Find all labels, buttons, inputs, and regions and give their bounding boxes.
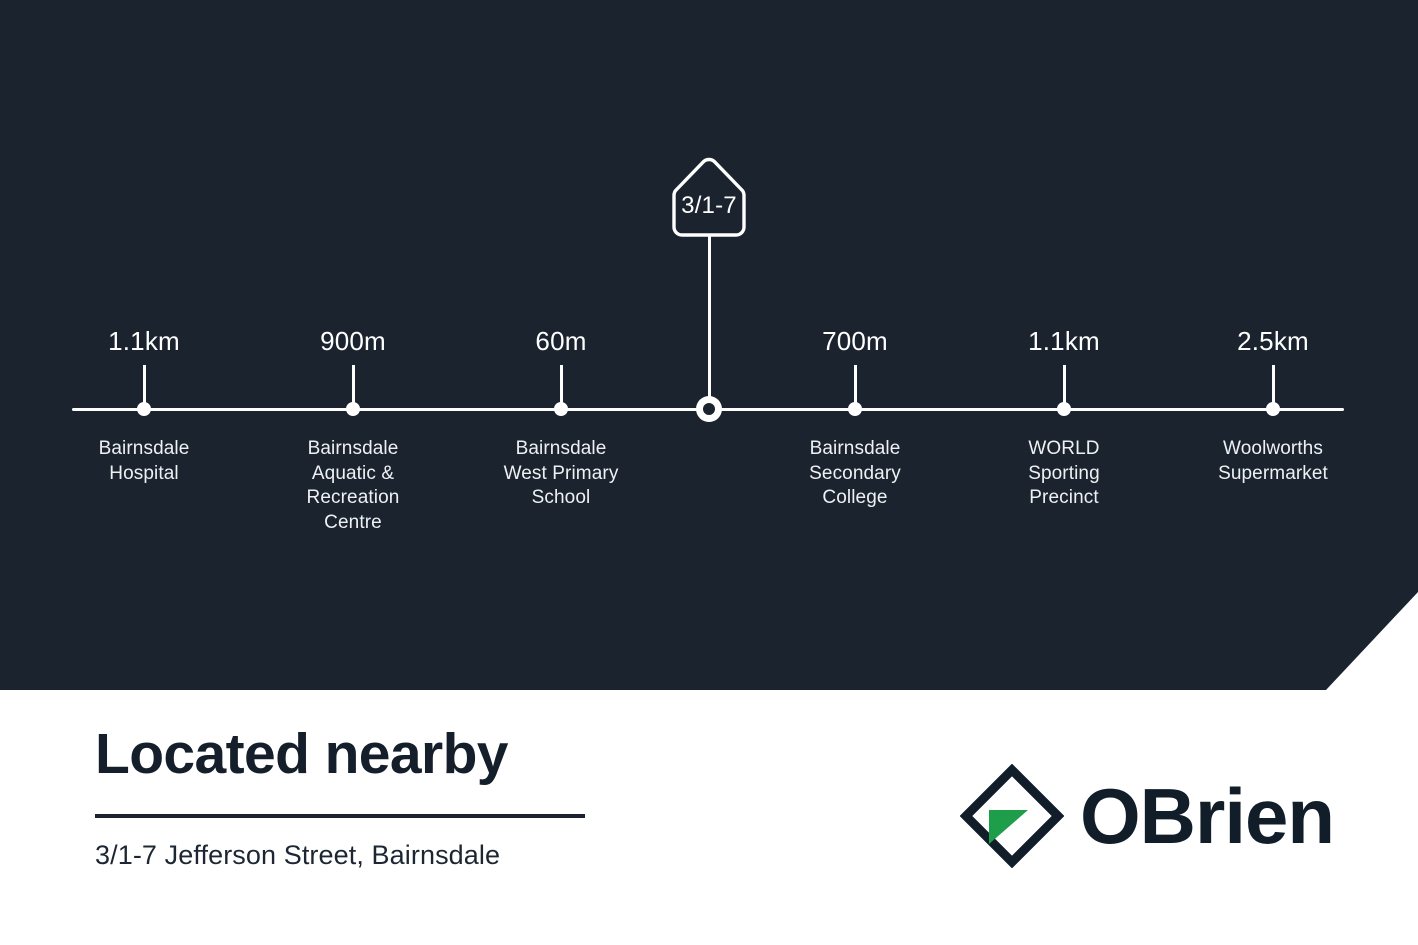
marker-distance: 900m [233,326,473,356]
marker-place-label: Bairnsdale West Primary School [451,437,671,511]
marker-distance: 700m [735,326,975,356]
page-title: Located nearby [95,723,508,785]
marker-place-label: Woolworths Supermarket [1163,437,1383,486]
marker-dot [1266,402,1280,416]
marker-place-label: Bairnsdale Secondary College [745,437,965,511]
home-marker-node [696,396,722,422]
marker-dot [1057,402,1071,416]
home-marker-stem [708,236,711,406]
marker-distance: 1.1km [24,326,264,356]
property-address: 3/1-7 Jefferson Street, Bairnsdale [95,838,500,872]
marker-dot [554,402,568,416]
obrien-wordmark: OBrien [1080,776,1334,856]
marker-distance: 60m [441,326,681,356]
marker-place-label: Bairnsdale Aquatic & Recreation Centre [243,437,463,535]
marker-distance: 2.5km [1153,326,1393,356]
marker-distance: 1.1km [944,326,1184,356]
marker-dot [137,402,151,416]
title-divider [95,814,585,818]
home-pin-label: 3/1-7 [671,157,747,239]
marker-place-label: Bairnsdale Hospital [34,437,254,486]
poster-canvas: 1.1km Bairnsdale Hospital 900m Bairnsdal… [0,0,1418,945]
marker-place-label: WORLD Sporting Precinct [954,437,1174,511]
marker-dot [848,402,862,416]
obrien-logo: OBrien [960,764,1300,868]
obrien-diamond-icon [960,764,1064,868]
marker-dot [346,402,360,416]
